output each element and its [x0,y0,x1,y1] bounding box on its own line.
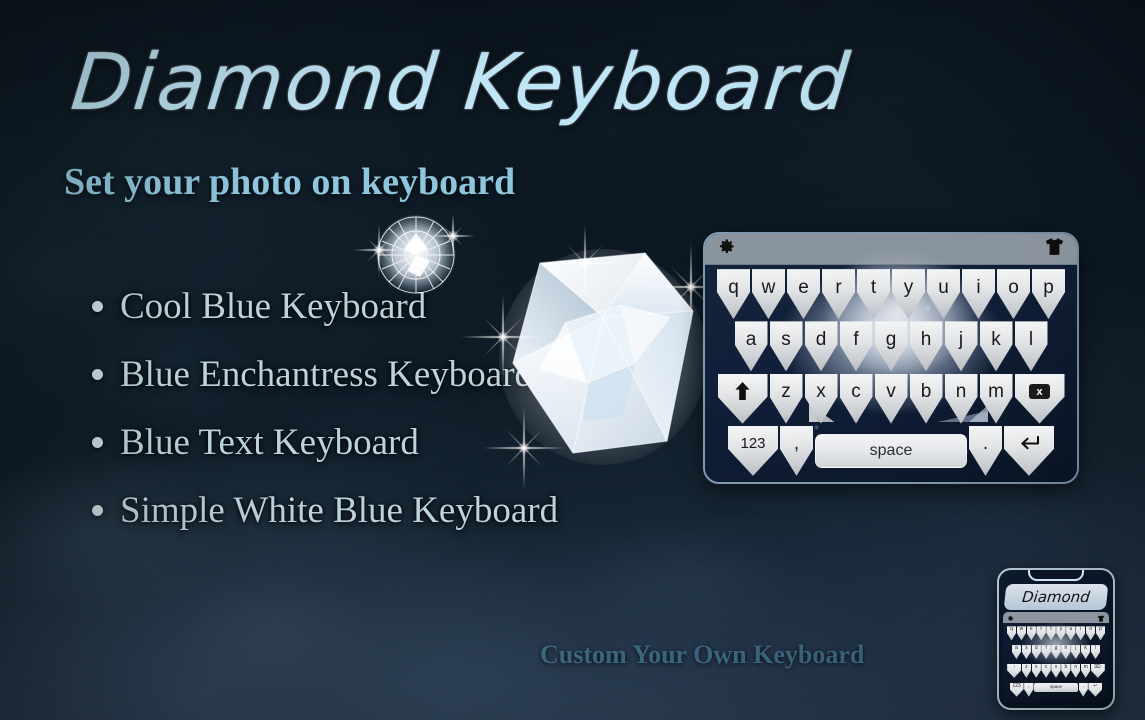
phone-text-field: Diamond [1004,584,1109,610]
key-d[interactable]: d [805,321,838,371]
phone-key-enter: ↵ [1088,683,1102,697]
phone-key: q [1007,626,1016,640]
feature-label: Blue Enchantress Keyboard [120,353,533,396]
phone-key: u [1066,626,1075,640]
phone-key: x [1032,664,1041,678]
key-x[interactable]: x [805,374,838,424]
phone-key: r [1036,626,1045,640]
keyboard-toolbar [705,234,1077,265]
shift-arrow-icon [734,382,751,401]
phone-key: w [1017,626,1026,640]
phone-key: p [1096,626,1105,640]
keyboard-row-2: a s d f g h j k l [709,321,1073,371]
phone-key-space: space [1034,683,1078,692]
key-o[interactable]: o [997,269,1030,319]
phone-key: k [1081,645,1090,659]
list-item: Simple White Blue Keyboard [92,476,692,544]
key-n[interactable]: n [945,374,978,424]
key-k[interactable]: k [980,321,1013,371]
key-w[interactable]: w [752,269,785,319]
key-s[interactable]: s [770,321,803,371]
key-enter[interactable] [1004,426,1054,476]
phone-key: n [1071,664,1080,678]
phone-row-3: ↑ z x c v b n m ⌦ [1004,664,1108,678]
key-b[interactable]: b [910,374,943,424]
key-t[interactable]: t [857,269,890,319]
key-shift[interactable] [718,374,768,424]
key-backspace[interactable]: x [1015,374,1065,424]
phone-key: s [1022,645,1031,659]
phone-row-4: 123 , space . ↵ [1004,683,1108,697]
key-q[interactable]: q [717,269,750,319]
phone-key: a [1012,645,1021,659]
phone-row-2: a s d f g h j k l [1004,645,1108,659]
enter-arrow-icon [1019,435,1040,452]
tshirt-icon [1097,612,1105,627]
key-m[interactable]: m [980,374,1013,424]
phone-thumbnail[interactable]: Diamond q w e [997,568,1115,710]
key-l[interactable]: l [1015,321,1048,371]
key-numbers[interactable]: 123 [728,426,778,476]
bullet-icon [92,369,103,380]
key-h[interactable]: h [910,321,943,371]
key-comma[interactable]: , [780,426,813,476]
phone-key: v [1051,664,1060,678]
phone-keyboard-toolbar [1003,612,1109,623]
phone-key: z [1022,664,1031,678]
phone-notch [1028,570,1084,581]
tshirt-icon[interactable] [1044,237,1065,261]
bullet-icon [92,505,103,516]
key-i[interactable]: i [962,269,995,319]
key-a[interactable]: a [735,321,768,371]
phone-key: y [1056,626,1065,640]
backspace-icon: x [1029,384,1050,399]
key-p[interactable]: p [1032,269,1065,319]
list-item: Cool Blue Keyboard [92,272,692,340]
list-item: Blue Text Keyboard [92,408,692,476]
feature-label: Cool Blue Keyboard [120,285,426,328]
key-z[interactable]: z [770,374,803,424]
list-item: Blue Enchantress Keyboard [92,340,692,408]
bullet-icon [92,437,103,448]
keyboard-row-1: q w e r t y u i o p [709,269,1073,319]
key-g[interactable]: g [875,321,908,371]
feature-label: Simple White Blue Keyboard [120,489,558,532]
phone-keyboard-preview: q w e r t y u i o p a s d f g h [1003,612,1109,702]
phone-row-1: q w e r t y u i o p [1004,626,1108,640]
phone-key: g [1051,645,1060,659]
key-j[interactable]: j [945,321,978,371]
key-v[interactable]: v [875,374,908,424]
phone-key: . [1079,683,1088,697]
gear-icon[interactable] [717,237,736,261]
key-space[interactable]: space [815,434,967,468]
phone-key: j [1071,645,1080,659]
gear-icon [1007,612,1014,627]
promo-banner: Diamond Keyboard Set your photo on keybo… [0,0,1145,720]
phone-key: i [1076,626,1085,640]
feature-label: Blue Text Keyboard [120,421,419,464]
phone-key: e [1027,626,1036,640]
phone-key-numbers: 123 [1010,683,1024,697]
phone-key: l [1091,645,1100,659]
phone-key: d [1032,645,1041,659]
feature-list: Cool Blue Keyboard Blue Enchantress Keyb… [92,272,692,544]
phone-key-backspace: ⌦ [1091,664,1105,678]
keyboard-row-4: 123 , space . [709,426,1073,476]
phone-key: m [1081,664,1090,678]
phone-key: c [1041,664,1050,678]
key-y[interactable]: y [892,269,925,319]
page-title: Diamond Keyboard [67,38,855,128]
key-u[interactable]: u [927,269,960,319]
keyboard-preview[interactable]: q w e r t y u i o p a s d f g h j k l [703,232,1079,484]
key-period[interactable]: . [969,426,1002,476]
key-c[interactable]: c [840,374,873,424]
phone-key: o [1086,626,1095,640]
page-subtitle: Set your photo on keyboard [64,160,515,204]
phone-key: f [1041,645,1050,659]
phone-keyboard-rows: q w e r t y u i o p a s d f g h [1003,623,1109,700]
sparkle-icon [430,213,476,259]
key-f[interactable]: f [840,321,873,371]
key-e[interactable]: e [787,269,820,319]
phone-key: b [1061,664,1070,678]
bullet-icon [92,301,103,312]
phone-key-shift: ↑ [1007,664,1021,678]
phone-key: , [1024,683,1033,697]
phone-key: t [1046,626,1055,640]
footer-caption: Custom Your Own Keyboard [540,640,864,670]
key-r[interactable]: r [822,269,855,319]
keyboard-row-3: z x c v b n m x [709,374,1073,424]
sparkle-icon [352,223,406,277]
phone-key: h [1061,645,1070,659]
keyboard-rows: q w e r t y u i o p a s d f g h j k l [705,265,1077,482]
